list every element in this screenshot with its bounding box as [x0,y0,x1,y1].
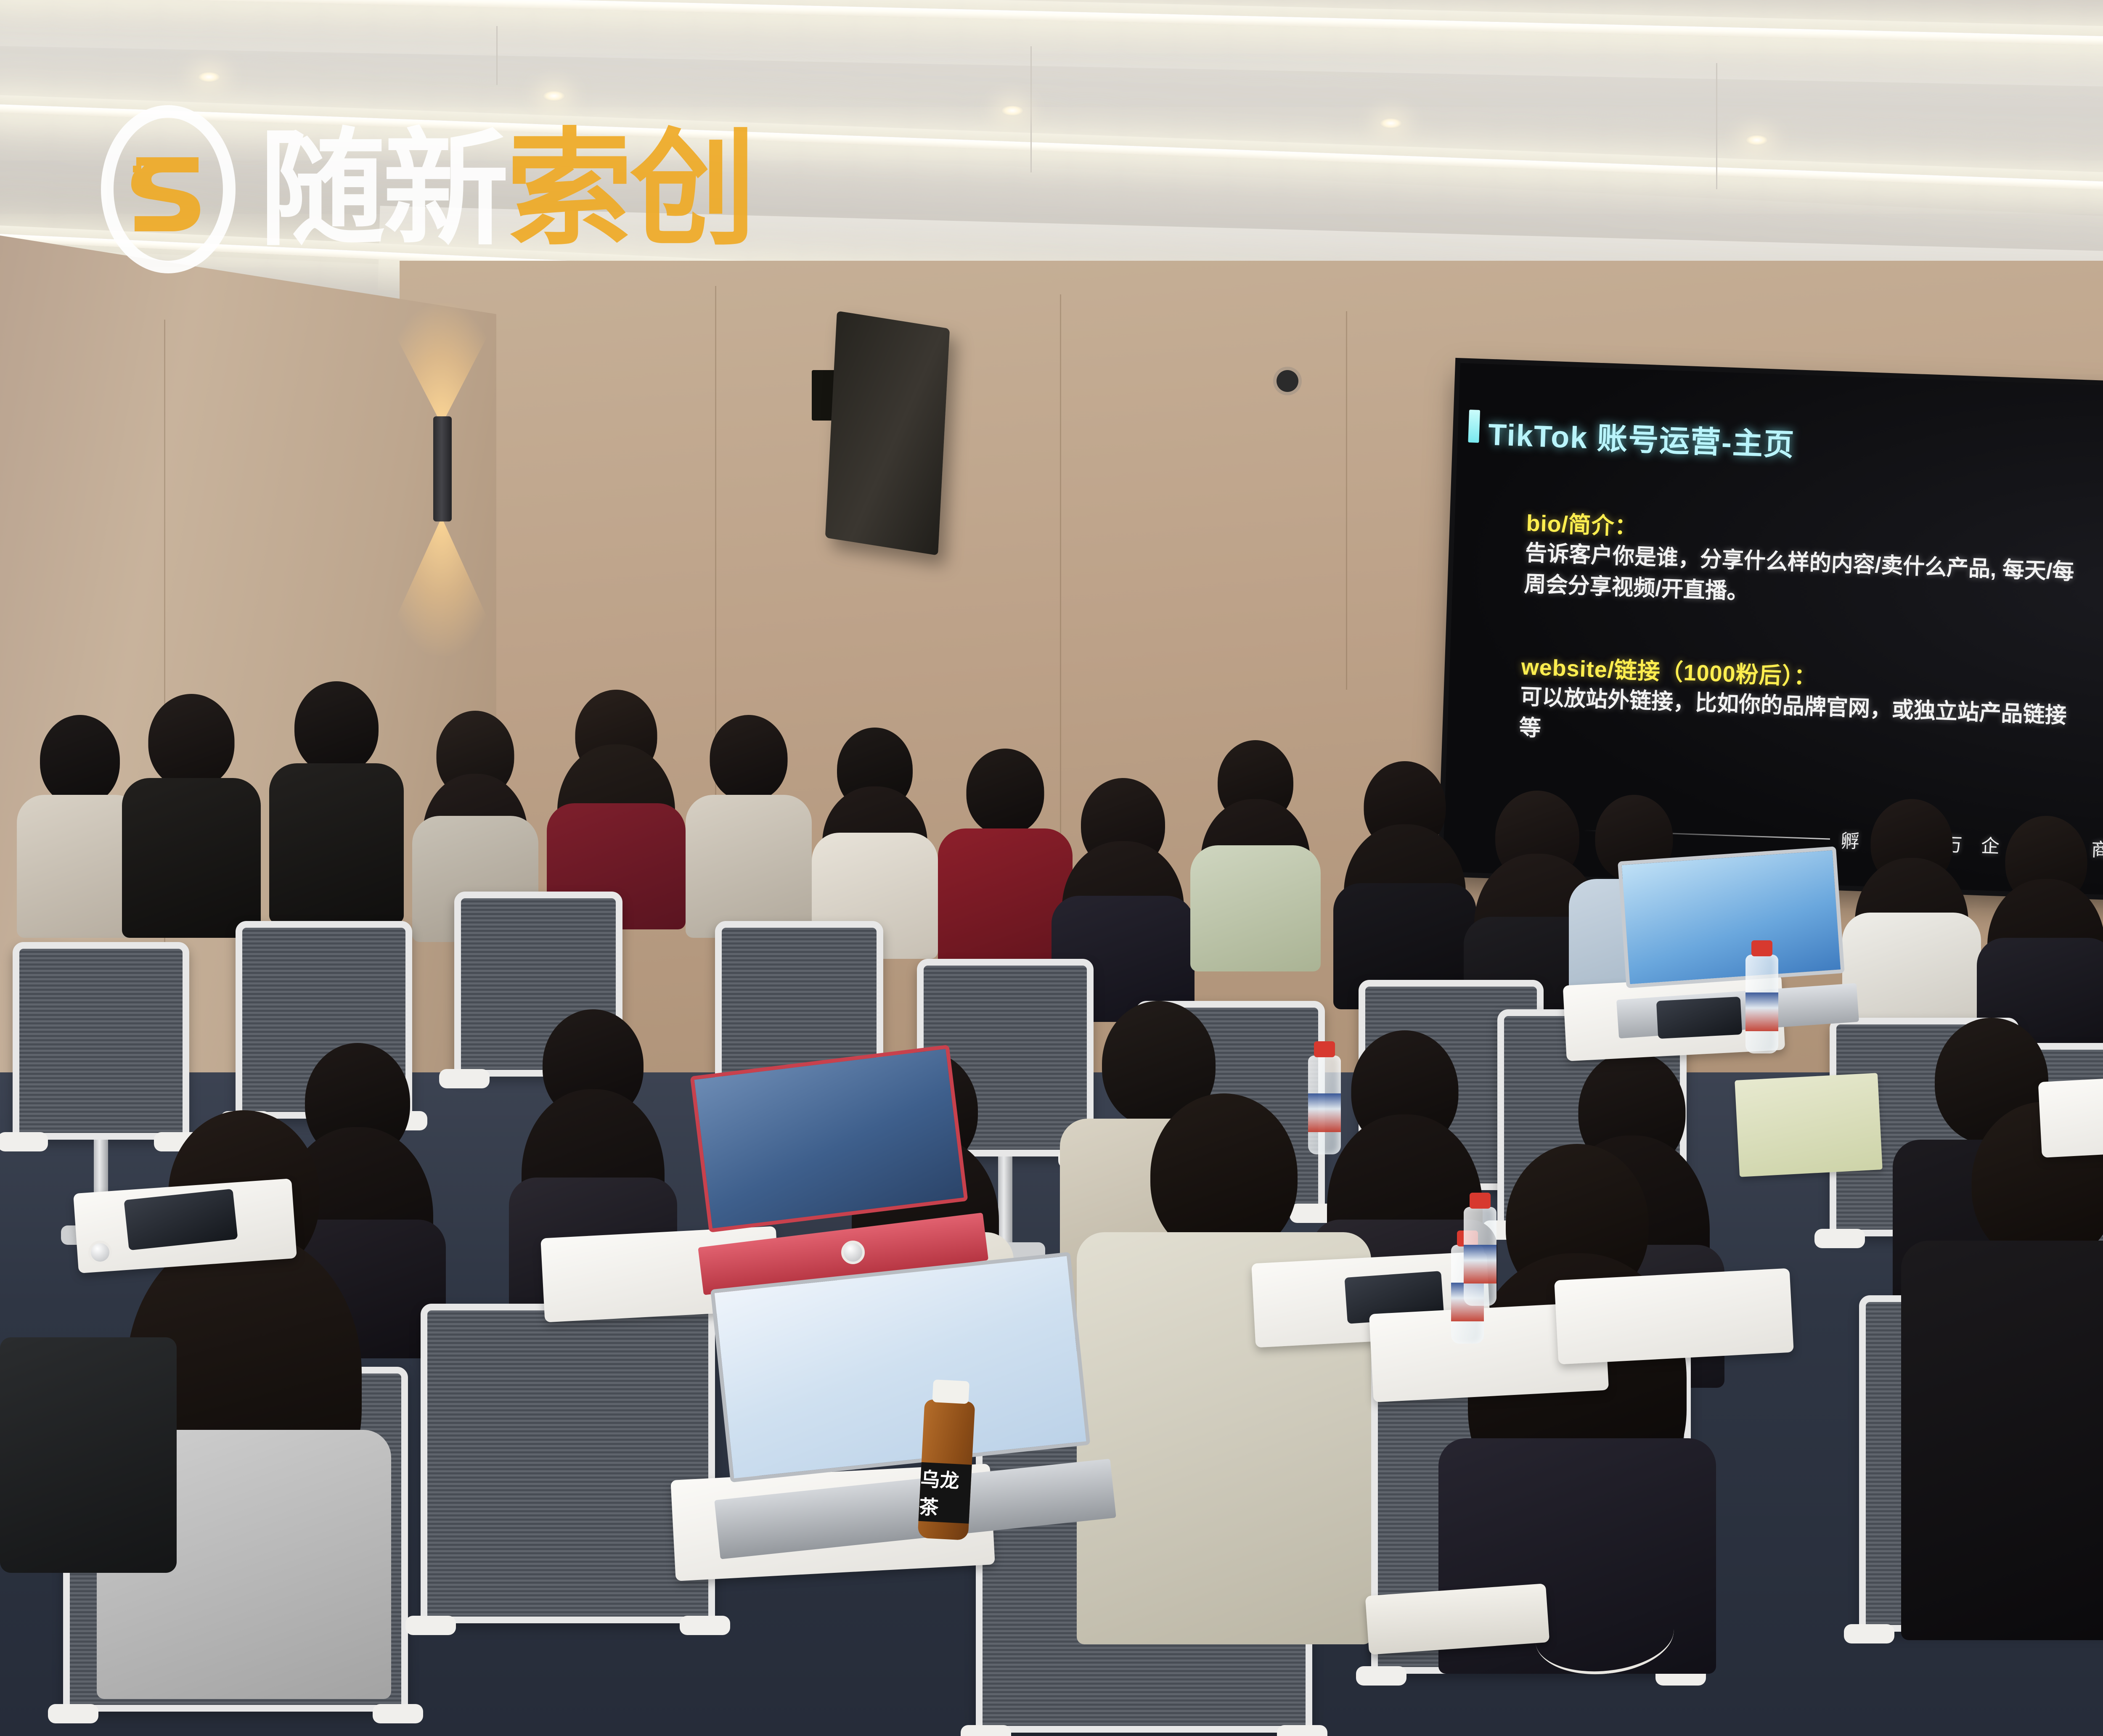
water-bottle-icon [1745,955,1778,1053]
light-suspension-wire [496,26,498,85]
laptop-icon[interactable] [710,1252,1098,1557]
slide-section1-heading: bio/简介： [1526,504,1639,541]
recessed-downlight [1745,135,1768,146]
recessed-downlight [543,90,565,101]
chair-tablet-arm [1554,1268,1794,1364]
seminar-photo-scene: TikTok 账号运营-主页 bio/简介： 告诉客户你是谁，分享什么样的内容/… [0,0,2103,1736]
tablet-arm-knob[interactable] [841,1241,865,1264]
recessed-downlight [198,71,220,82]
suixin-suochuang-circle-s-logo-icon [101,105,236,273]
wall-sconce-icon [433,416,452,521]
attendee [269,681,404,917]
attendee [1333,761,1476,997]
smartphone-icon[interactable] [1656,997,1742,1039]
wall-speaker-icon [825,311,950,556]
tablet-arm-knob[interactable] [88,1241,112,1264]
audience-chair[interactable] [421,1304,715,1623]
light-suspension-wire [1716,63,1717,189]
chair-tablet-arm [2038,1071,2103,1158]
attendee [1842,799,1981,1035]
wood-panel-seam [1346,311,1347,690]
tea-bottle-label: 乌龙茶 [919,1462,972,1524]
backpack-icon [0,1337,177,1573]
water-bottle-icon [1464,1207,1496,1306]
watermark-text-white: 随新 [259,130,506,249]
ceiling-camera-icon [1277,370,1298,392]
logo-s-glyph [126,151,210,235]
tea-bottle-icon: 乌龙茶 [917,1399,975,1540]
watermark-logo: 随新 索创 [101,101,900,278]
recessed-downlight [1380,118,1402,129]
attendee [686,715,812,934]
notebook-icon [1735,1073,1883,1177]
slide-title-accent-bar [1468,410,1480,443]
attendee [122,694,261,929]
light-suspension-wire [1030,46,1032,172]
attendee-foreground [1077,1093,1371,1640]
water-bottle-icon [1308,1056,1341,1154]
recessed-downlight [1001,105,1024,116]
laptop-icon[interactable] [690,1045,976,1294]
watermark-text: 随新 索创 [259,130,754,249]
attendee [812,728,938,946]
watermark-text-yellow: 索创 [506,130,754,249]
attendee-foreground [1901,1102,2103,1640]
attendee [547,690,686,925]
attendee [1190,740,1321,959]
power-strip-icon[interactable] [1365,1583,1550,1655]
attendee [1977,816,2103,1051]
